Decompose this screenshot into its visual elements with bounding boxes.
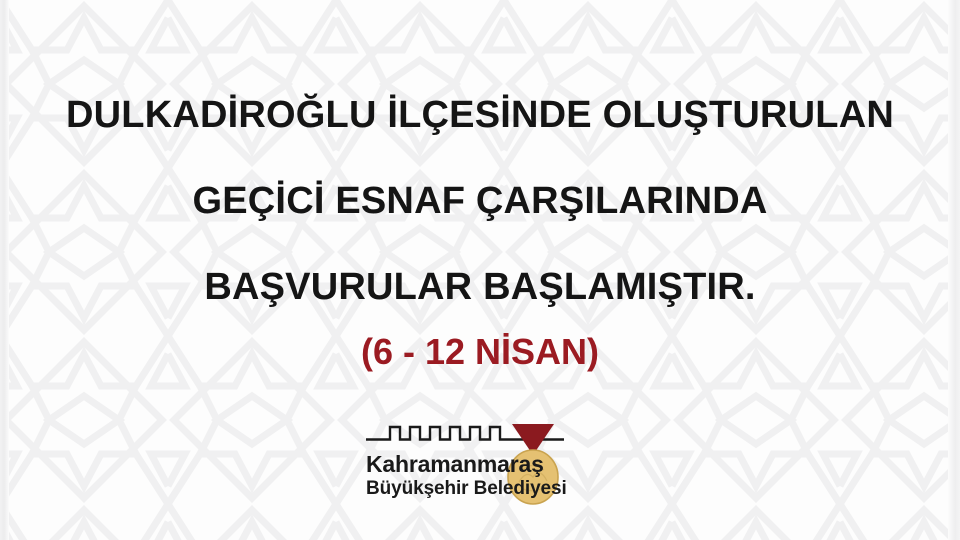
left-edge-shadow (0, 0, 9, 540)
headline-line-2: GEÇİCİ ESNAF ÇARŞILARINDA (0, 158, 960, 244)
announcement-poster: DULKADİROĞLU İLÇESİNDE OLUŞTURULAN GEÇİC… (0, 0, 960, 540)
municipality-logo: Kahramanmaraş Büyükşehir Belediyesi (364, 414, 604, 506)
logo-name-line-1: Kahramanmaraş (366, 451, 544, 477)
right-edge-shadow (948, 0, 960, 540)
logo-name-line-2: Büyükşehir Belediyesi (366, 478, 567, 499)
headline-line-3: BAŞVURULAR BAŞLAMIŞTIR. (0, 244, 960, 330)
date-range-text: (6 - 12 NİSAN) (0, 328, 960, 376)
headline: DULKADİROĞLU İLÇESİNDE OLUŞTURULAN GEÇİC… (0, 72, 960, 330)
headline-line-1: DULKADİROĞLU İLÇESİNDE OLUŞTURULAN (0, 72, 960, 158)
